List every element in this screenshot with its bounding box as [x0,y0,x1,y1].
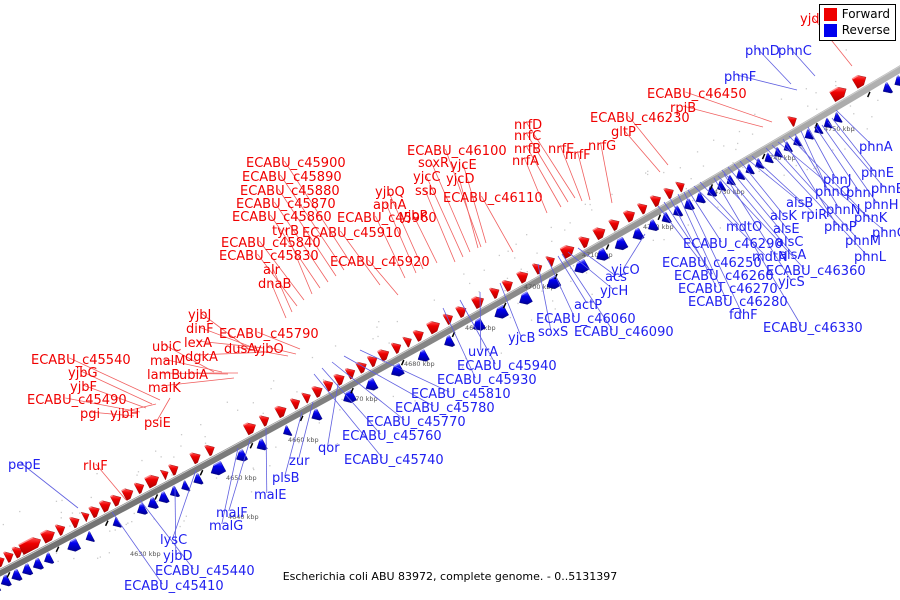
forward-swatch-icon [824,8,837,21]
gene-label-forward[interactable]: pgi [80,407,100,422]
gene-label-forward[interactable]: lexA [184,336,212,351]
gene-label-forward[interactable]: ubiA [179,368,208,383]
gene-label-reverse[interactable]: fdhF [729,308,758,323]
gene-label-forward[interactable]: yjcC [413,170,441,185]
gene-label-reverse-leader [688,190,721,242]
gene-label-forward[interactable]: psiE [144,416,171,431]
gene-label-reverse[interactable]: phnO [815,185,850,200]
gene-label-forward[interactable]: yjbG [68,366,98,381]
legend-label-forward: Forward [842,8,890,21]
gene-label-reverse[interactable]: ECABU_c46090 [574,325,674,340]
gene-label-reverse[interactable]: ECABU_c45770 [366,415,466,430]
axis-tick-label: 4650 kbp [226,474,257,482]
gene-label-reverse[interactable]: malG [209,519,243,534]
gene-label-forward[interactable]: ubiC [152,340,181,355]
gene-label-forward[interactable]: yjbR [400,209,429,224]
gene-label-forward[interactable]: ECABU_c46450 [647,87,747,102]
gene-label-forward[interactable]: ECABU_c45860 [232,210,332,225]
gene-label-reverse-leader [746,158,799,201]
gene-label-reverse[interactable]: phnL [854,250,887,265]
gene-label-forward[interactable]: yjbJ [188,308,211,323]
gene-label-reverse-leader [266,428,267,493]
gene-label-reverse[interactable]: yjcB [508,331,535,346]
gene-label-forward[interactable]: alr [263,263,281,278]
gene-label-reverse[interactable]: malE [254,488,286,503]
gene-label-forward[interactable]: ECABU_c45890 [242,170,342,185]
axis-tick-label: 4680 kbp [404,360,435,368]
gene-label-reverse[interactable]: yjcS [778,275,805,290]
gene-label-reverse[interactable]: mdtO [726,220,762,235]
gene-label-forward[interactable]: ssb [415,184,437,199]
gene-label-reverse[interactable]: ECABU_c45940 [457,359,557,374]
gene-label-forward[interactable]: dnaB [258,277,291,292]
gene-label-reverse[interactable]: ECABU_c45780 [395,401,495,416]
legend: Forward Reverse [819,4,896,41]
gene-label-forward[interactable]: soxR [418,156,449,171]
gene-label-forward[interactable]: ECABU_c45920 [330,255,430,270]
gene-label-forward[interactable]: nrfF [565,148,591,163]
gene-label-reverse[interactable]: phnB [871,182,900,197]
gene-label-reverse[interactable]: phnF [724,70,756,85]
gene-label-reverse[interactable]: pepE [8,458,41,473]
gene-label-reverse[interactable]: ECABU_c45740 [344,453,444,468]
legend-item-forward[interactable]: Forward [824,8,890,21]
gene-label-reverse[interactable]: plsB [272,471,300,486]
gene-label-reverse[interactable]: phnD [745,44,780,59]
gene-label-forward[interactable]: yjcE [450,158,477,173]
gene-label-forward[interactable]: gltP [611,125,636,140]
gene-label-reverse[interactable]: uvrA [468,345,498,360]
legend-label-reverse: Reverse [842,24,890,37]
axis-tick-label: 4630 kbp [130,550,161,558]
gene-label-forward[interactable]: dusA [224,342,256,357]
gene-label-reverse[interactable]: lysC [160,533,187,548]
gene-label-reverse[interactable]: yjbD [163,549,193,564]
gene-label-forward-leader [459,177,478,248]
gene-label-forward[interactable]: dgkA [185,350,218,365]
gene-label-forward[interactable]: malM [150,354,185,369]
gene-label-forward[interactable]: ECABU_c45910 [302,226,402,241]
gene-label-forward[interactable]: ECABU_c46230 [590,111,690,126]
gene-label-forward[interactable]: dinF [186,322,214,337]
gene-label-reverse[interactable]: actP [574,298,602,313]
gene-label-forward[interactable]: ECABU_c45790 [219,327,319,342]
gene-label-reverse[interactable]: zur [289,454,310,469]
gene-label-forward[interactable]: ECABU_c45900 [246,156,346,171]
gene-label-forward[interactable]: ECABU_c45490 [27,393,127,408]
gene-label-forward[interactable]: yjbO [254,342,284,357]
gene-label-forward[interactable]: malK [148,381,181,396]
gene-label-reverse[interactable]: phnP [824,220,857,235]
gene-label-reverse[interactable]: phnE [861,166,894,181]
gene-label-reverse[interactable]: ECABU_c46290 [683,237,783,252]
gene-label-reverse[interactable]: phnA [859,140,893,155]
genome-map-canvas[interactable]: 4630 kbp4640 kbp4650 kbp4660 kbp4670 kbp… [0,0,900,600]
gene-label-reverse[interactable]: ECABU_c45810 [411,387,511,402]
gene-label-reverse[interactable]: soxS [538,325,568,340]
gene-label-forward[interactable]: yjcD [446,172,474,187]
gene-label-forward[interactable]: rluF [83,459,108,474]
gene-label-reverse[interactable]: phnI [846,186,875,201]
legend-item-reverse[interactable]: Reverse [824,24,890,37]
gene-label-reverse[interactable]: phnK [854,211,888,226]
gene-label-forward[interactable]: ECABU_c45830 [219,249,319,264]
gene-label-forward[interactable]: nrfA [512,154,539,169]
gene-label-reverse[interactable]: acs [605,270,627,285]
genome-map-viewer: 4630 kbp4640 kbp4650 kbp4660 kbp4670 kbp… [0,0,900,600]
gene-label-reverse[interactable]: yjcH [600,284,628,299]
gene-label-reverse[interactable]: phnC [778,44,812,59]
reverse-swatch-icon [824,24,837,37]
genome-caption: Escherichia coli ABU 83972, complete gen… [0,570,900,583]
gene-label-forward[interactable]: yjbH [110,407,139,422]
gene-label-forward[interactable]: ECABU_c46110 [443,191,543,206]
gene-label-reverse[interactable]: phnM [845,234,881,249]
gene-label-reverse[interactable]: ECABU_c45930 [437,373,537,388]
gene-label-reverse[interactable]: rpiR [801,208,827,223]
gene-label-forward[interactable]: nrfG [588,139,616,154]
gene-label-reverse[interactable]: qor [318,441,340,456]
gene-label-reverse[interactable]: ECABU_c46330 [763,321,863,336]
gene-label-reverse[interactable]: ECABU_c45760 [342,429,442,444]
